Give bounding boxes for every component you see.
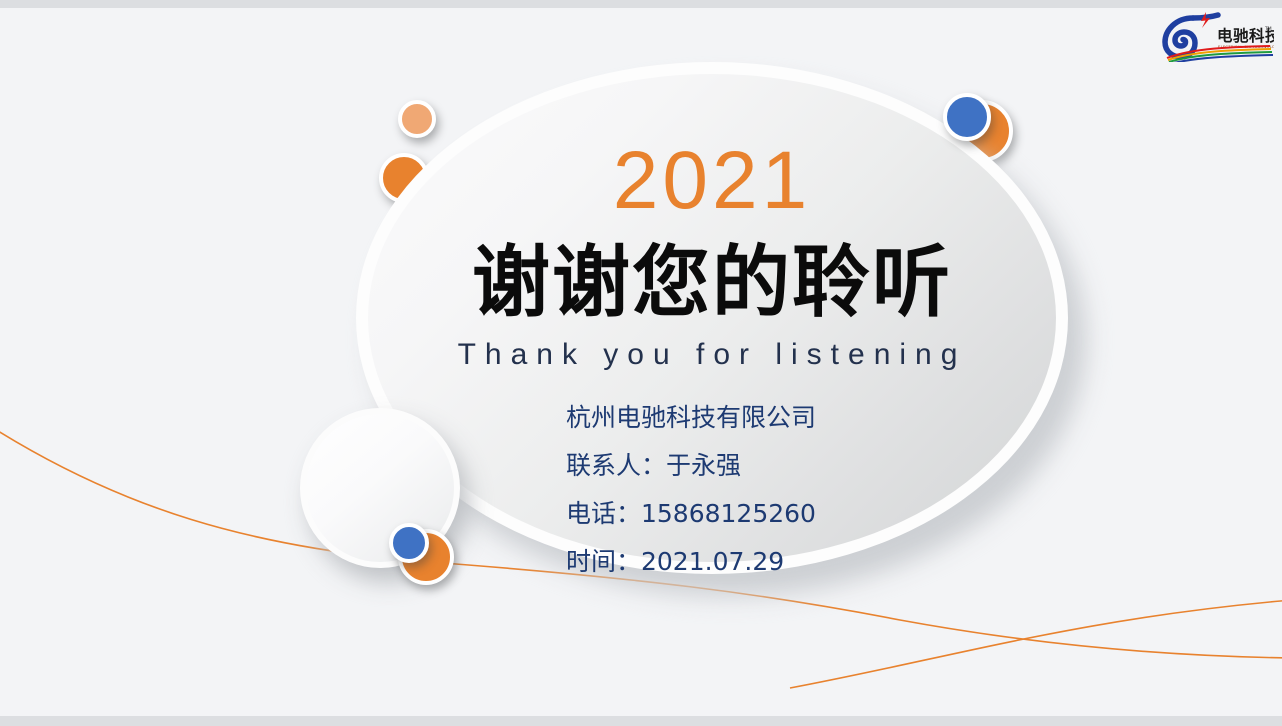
contact-phone: 电话：15868125260 [566, 490, 1068, 538]
slide-frame-top [0, 0, 1282, 8]
year-heading: 2021 [356, 140, 1068, 222]
contact-info-block: 杭州电驰科技有限公司 联系人：于永强 电话：15868125260 时间：202… [566, 394, 1068, 586]
page-title: 谢谢您的聆听 [356, 244, 1068, 322]
presentation-slide: 2021 谢谢您的聆听 Thank you for listening 杭州电驰… [0, 0, 1282, 726]
contact-company: 杭州电驰科技有限公司 [566, 394, 1068, 442]
slide-canvas: 2021 谢谢您的聆听 Thank you for listening 杭州电驰… [0, 8, 1282, 716]
page-subtitle: Thank you for listening [356, 340, 1068, 370]
slide-frame-bottom [0, 716, 1282, 726]
slide-text-block: 2021 谢谢您的聆听 Thank you for listening 杭州电驰… [356, 62, 1068, 574]
company-logo: 电驰科技 ELECTRICAL CHI TECHNOLOGY TM [1158, 10, 1274, 62]
contact-person: 联系人：于永强 [566, 442, 1068, 490]
contact-date: 时间：2021.07.29 [566, 538, 1068, 586]
svg-text:TM: TM [1264, 26, 1272, 32]
